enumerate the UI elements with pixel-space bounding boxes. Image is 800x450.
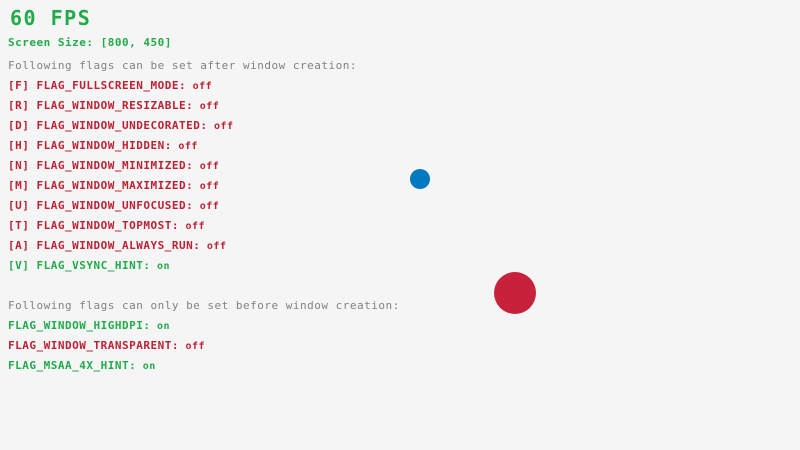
flag-name: FLAG_WINDOW_MAXIMIZED: [37,179,194,192]
flag-value: off [179,221,205,232]
screen-size-label: Screen Size: [800, 450] [8,37,172,48]
flag-key: [H] [8,139,37,152]
flag-value: off [207,121,233,132]
flag-name: FLAG_WINDOW_TRANSPARENT: [8,339,179,352]
flag-row[interactable]: [D] FLAG_WINDOW_UNDECORATED: off [8,120,234,132]
flag-row[interactable]: [U] FLAG_WINDOW_UNFOCUSED: off [8,200,219,212]
fps-counter: 60 FPS [10,8,91,28]
flag-value: off [193,161,219,172]
flag-name: FLAG_WINDOW_UNFOCUSED: [37,199,194,212]
flag-key: [M] [8,179,37,192]
flag-value: off [193,181,219,192]
flag-value: off [193,101,219,112]
flag-value: off [186,81,212,92]
flag-name: FLAG_WINDOW_HIDDEN: [37,139,172,152]
flag-value: off [193,201,219,212]
flag-value: on [150,261,170,272]
raylib-canvas: 60 FPS Screen Size: [800, 450] Following… [0,0,800,450]
flag-key: [A] [8,239,37,252]
flag-value: off [179,341,205,352]
red-circle [494,272,536,314]
flag-row[interactable]: [M] FLAG_WINDOW_MAXIMIZED: off [8,180,219,192]
flag-value: on [150,321,170,332]
flag-key: [V] [8,259,37,272]
flag-name: FLAG_VSYNC_HINT: [37,259,151,272]
flag-name: FLAG_WINDOW_TOPMOST: [37,219,179,232]
flag-key: [U] [8,199,37,212]
flag-key: [N] [8,159,37,172]
flag-name: FLAG_WINDOW_HIGHDPI: [8,319,150,332]
flag-row[interactable]: [N] FLAG_WINDOW_MINIMIZED: off [8,160,219,172]
flag-value: off [172,141,198,152]
blue-circle [410,169,430,189]
flag-name: FLAG_FULLSCREEN_MODE: [37,79,187,92]
flag-row[interactable]: [R] FLAG_WINDOW_RESIZABLE: off [8,100,219,112]
flag-value: off [200,241,226,252]
flag-row[interactable]: [A] FLAG_WINDOW_ALWAYS_RUN: off [8,240,226,252]
flag-key: [R] [8,99,37,112]
flag-name: FLAG_WINDOW_RESIZABLE: [37,99,194,112]
flag-key: [T] [8,219,37,232]
flag-name: FLAG_WINDOW_ALWAYS_RUN: [37,239,201,252]
flag-key: [D] [8,119,37,132]
flag-key: [F] [8,79,37,92]
flag-row[interactable]: [V] FLAG_VSYNC_HINT: on [8,260,170,272]
flag-row[interactable]: FLAG_WINDOW_HIGHDPI: on [8,320,170,332]
flag-row[interactable]: [F] FLAG_FULLSCREEN_MODE: off [8,80,212,92]
flag-row[interactable]: FLAG_MSAA_4X_HINT: on [8,360,156,372]
flag-row[interactable]: [H] FLAG_WINDOW_HIDDEN: off [8,140,198,152]
flag-row[interactable]: FLAG_WINDOW_TRANSPARENT: off [8,340,205,352]
flag-name: FLAG_WINDOW_UNDECORATED: [37,119,208,132]
flag-value: on [136,361,156,372]
flag-row[interactable]: [T] FLAG_WINDOW_TOPMOST: off [8,220,205,232]
flag-name: FLAG_MSAA_4X_HINT: [8,359,136,372]
after-creation-heading: Following flags can be set after window … [8,60,357,71]
before-creation-heading: Following flags can only be set before w… [8,300,400,311]
flag-name: FLAG_WINDOW_MINIMIZED: [37,159,194,172]
